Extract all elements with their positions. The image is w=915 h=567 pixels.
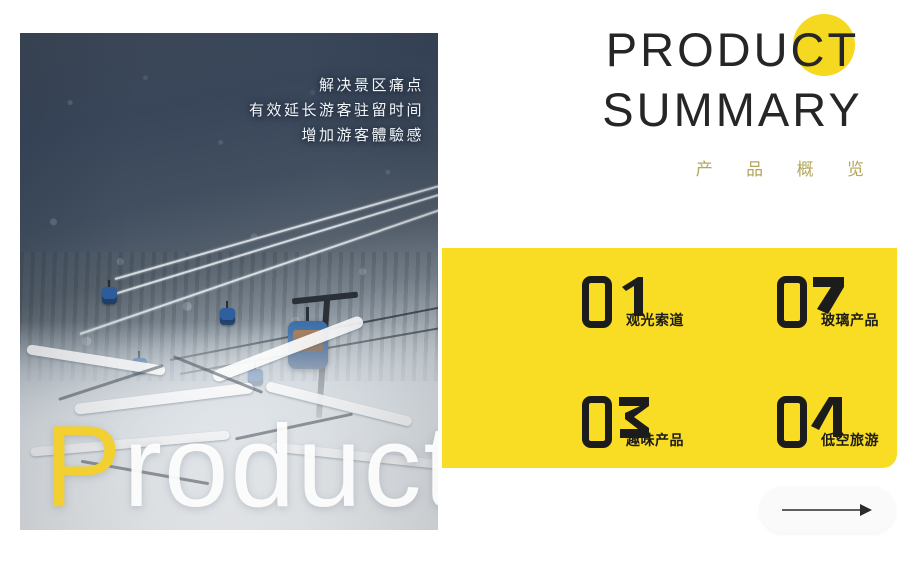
item-number-04 xyxy=(777,396,849,448)
product-item-02[interactable]: 玻璃产品 xyxy=(777,276,879,328)
digit-two-glyph xyxy=(811,276,849,328)
page-title: PRODUCT SUMMARY xyxy=(560,20,905,140)
digit-four-glyph xyxy=(811,396,849,448)
product-watermark: Product xyxy=(44,408,438,524)
arrow-right-icon xyxy=(780,503,876,517)
product-items-panel: 观光索道 玻璃产品 趣味产品 xyxy=(442,248,897,468)
item-number-03 xyxy=(582,396,654,448)
digit-one-glyph xyxy=(616,276,654,328)
digit-three-glyph xyxy=(616,396,654,448)
slogan-line-3: 增加游客體驗感 xyxy=(249,123,424,148)
item-number-02 xyxy=(777,276,849,328)
watermark-initial: P xyxy=(44,401,123,530)
digit-zero-glyph xyxy=(582,396,612,448)
product-item-01[interactable]: 观光索道 xyxy=(582,276,684,328)
page-subtitle: 产 品 概 览 xyxy=(560,155,900,180)
item-number-01 xyxy=(582,276,654,328)
photo-slogan: 解决景区痛点 有效延长游客驻留时间 增加游客體驗感 xyxy=(249,73,424,148)
page-title-line-2: SUMMARY xyxy=(560,80,905,140)
digit-zero-glyph xyxy=(777,396,807,448)
product-item-03[interactable]: 趣味产品 xyxy=(582,396,684,448)
product-item-04[interactable]: 低空旅游 xyxy=(777,396,879,448)
slogan-line-1: 解决景区痛点 xyxy=(249,73,424,98)
next-slide-button[interactable] xyxy=(760,487,895,533)
watermark-rest: roduct xyxy=(123,401,438,530)
slogan-line-2: 有效延长游客驻留时间 xyxy=(249,98,424,123)
digit-zero-glyph xyxy=(582,276,612,328)
digit-zero-glyph xyxy=(777,276,807,328)
product-photo: 解决景区痛点 有效延长游客驻留时间 增加游客體驗感 Product xyxy=(20,33,438,530)
page-title-line-1: PRODUCT xyxy=(560,20,905,80)
